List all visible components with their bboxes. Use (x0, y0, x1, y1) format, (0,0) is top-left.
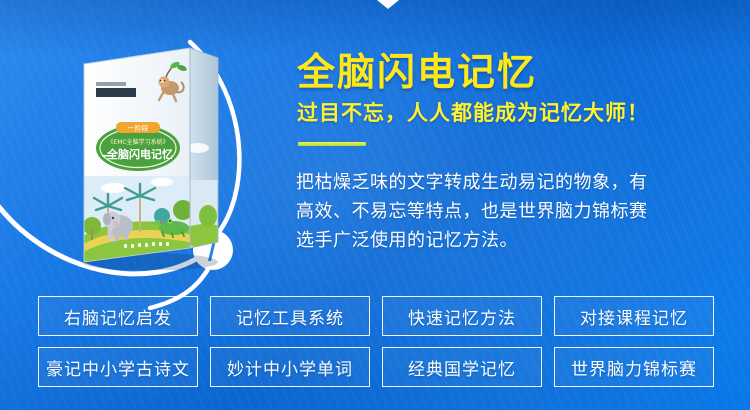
svg-text:《EMC全脑学习系统》: 《EMC全脑学习系统》 (107, 138, 168, 146)
product-package-image: 一阶段 《EMC全脑学习系统》 全脑闪电记忆 (78, 30, 228, 270)
svg-text:一阶段: 一阶段 (128, 124, 149, 133)
feature-box[interactable]: 妙计中小学单词 (210, 347, 370, 387)
description-line-3: 选手广泛使用的记忆方法。 (296, 226, 736, 255)
cloud-icon (151, 178, 173, 187)
svg-text:全脑闪电记忆: 全脑闪电记忆 (106, 147, 173, 161)
subtitle: 过目不忘，人人都能成为记忆大师！ (297, 101, 649, 127)
page-title: 全脑闪电记忆 (297, 52, 537, 94)
description-paragraph: 把枯燥乏味的文字转成生动易记的物象，有 高效、不易忘等特点，也是世界脑力锦标赛 … (296, 168, 736, 255)
brand-logo-mark (96, 88, 136, 97)
description-line-1: 把枯燥乏味的文字转成生动易记的物象，有 (296, 168, 736, 197)
brand-logo-line (96, 82, 126, 86)
feature-box[interactable]: 对接课程记忆 (554, 296, 714, 336)
feature-box[interactable]: 右脑记忆启发 (38, 296, 198, 336)
feature-box[interactable]: 世界脑力锦标赛 (554, 347, 714, 387)
feature-box[interactable]: 经典国学记忆 (382, 347, 542, 387)
description-line-2: 高效、不易忘等特点，也是世界脑力锦标赛 (296, 197, 736, 226)
feature-box[interactable]: 快速记忆方法 (382, 296, 542, 336)
title-underline-rule (298, 142, 366, 146)
feature-box[interactable]: 记忆工具系统 (210, 296, 370, 336)
top-notch-triangle (377, 0, 399, 9)
feature-box[interactable]: 豪记中小学古诗文 (38, 347, 198, 387)
promo-banner: 一阶段 《EMC全脑学习系统》 全脑闪电记忆 (0, 0, 750, 410)
feature-box-grid: 右脑记忆启发 记忆工具系统 快速记忆方法 对接课程记忆 豪记中小学古诗文 妙计中… (38, 296, 714, 388)
cloud-icon (101, 183, 127, 193)
